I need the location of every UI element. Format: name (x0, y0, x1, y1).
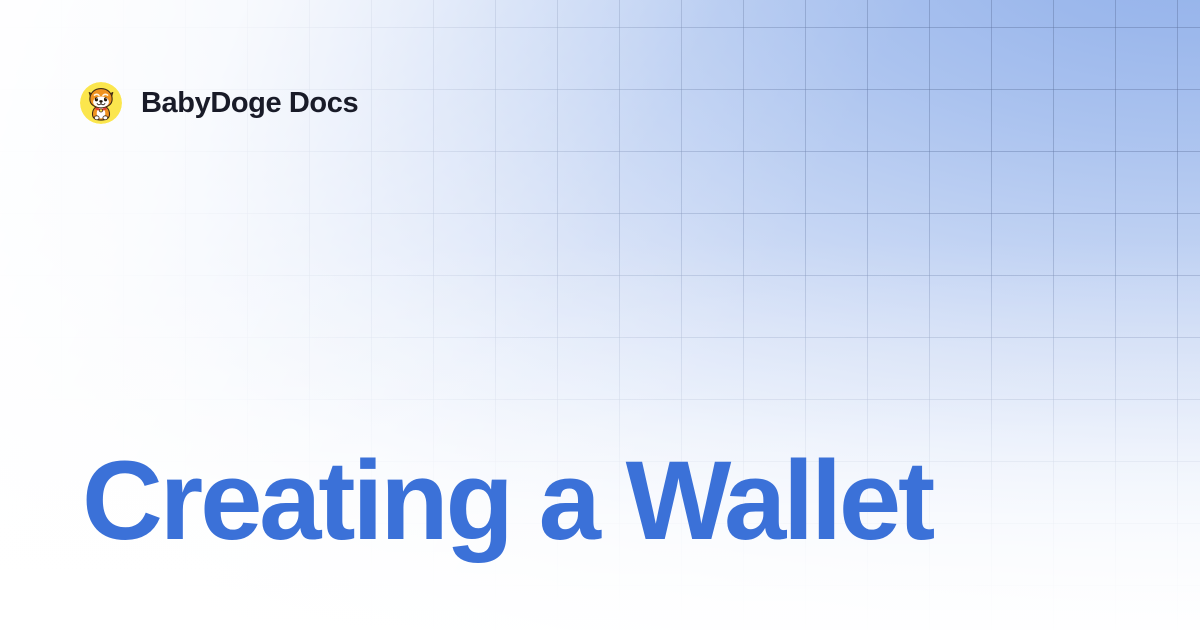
page-title: Creating a Wallet (82, 441, 1122, 562)
babydoge-shiba-logo-icon (80, 82, 122, 124)
brand-header[interactable]: BabyDoge Docs (80, 82, 358, 124)
brand-title: BabyDoge Docs (141, 89, 358, 118)
og-card-canvas: BabyDoge Docs Creating a Wallet (0, 0, 1200, 630)
